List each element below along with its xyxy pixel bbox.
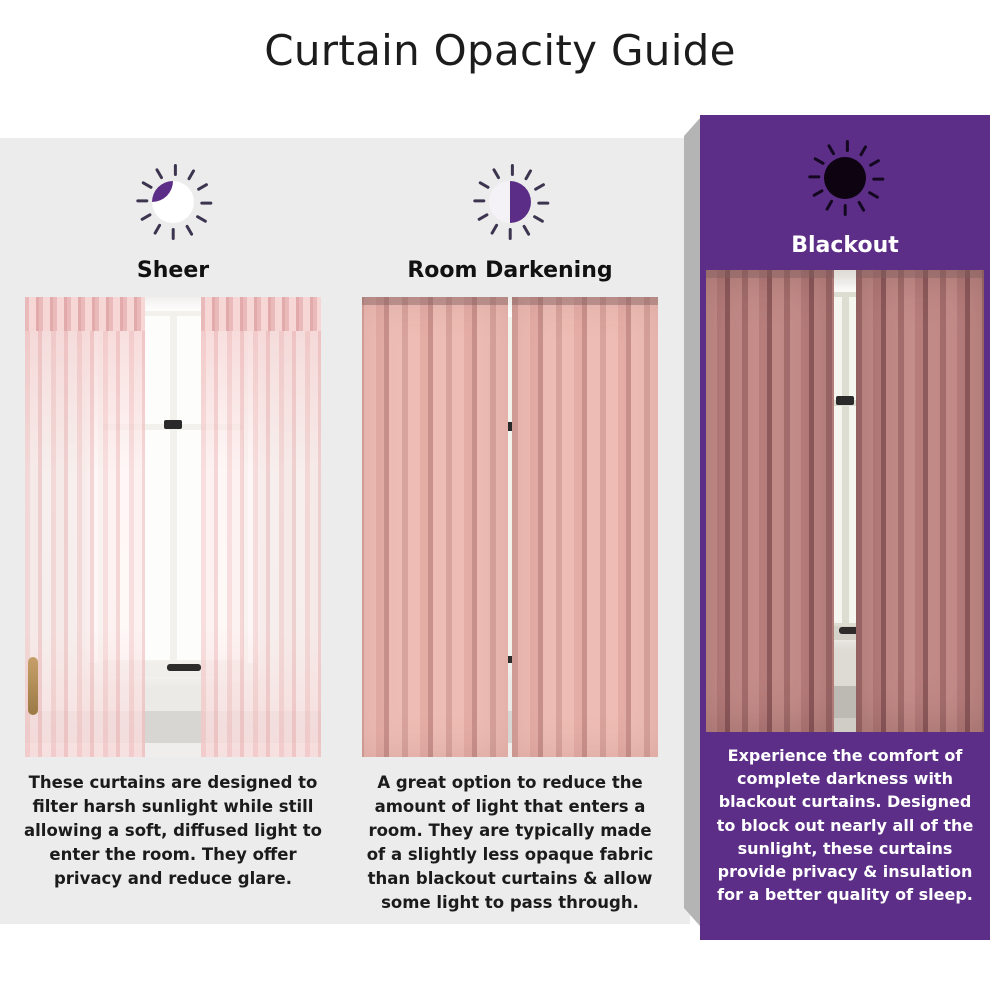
caption-room-darkening: A great option to reduce the amount of l… <box>360 771 660 915</box>
photo-blackout-curtains <box>706 270 984 732</box>
page-title: Curtain Opacity Guide <box>0 26 1000 75</box>
column-label-blackout: Blackout <box>700 233 990 258</box>
icon-wrap-blackout <box>700 115 990 233</box>
infographic-page: Curtain Opacity Guide Sheer <box>0 0 1000 1000</box>
column-room-darkening[interactable]: Room Darkening A great option to reduce … <box>345 138 675 915</box>
column-label-sheer: Sheer <box>8 258 338 283</box>
column-sheer[interactable]: Sheer These curtains are designed to fil… <box>8 138 338 891</box>
column-blackout[interactable]: Blackout Experience the comfort of compl… <box>700 115 990 940</box>
caption-sheer: These curtains are designed to filter ha… <box>23 771 323 891</box>
icon-wrap-room-darkening <box>345 138 675 258</box>
photo-room-darkening-curtains <box>362 297 658 757</box>
photo-sheer-curtains <box>25 297 321 757</box>
sun-half-filled-icon <box>467 159 553 245</box>
column-label-room-darkening: Room Darkening <box>345 258 675 283</box>
sun-quarter-filled-icon <box>130 159 216 245</box>
sun-full-filled-icon <box>802 135 888 221</box>
caption-blackout: Experience the comfort of complete darkn… <box>711 744 979 906</box>
icon-wrap-sheer <box>8 138 338 258</box>
